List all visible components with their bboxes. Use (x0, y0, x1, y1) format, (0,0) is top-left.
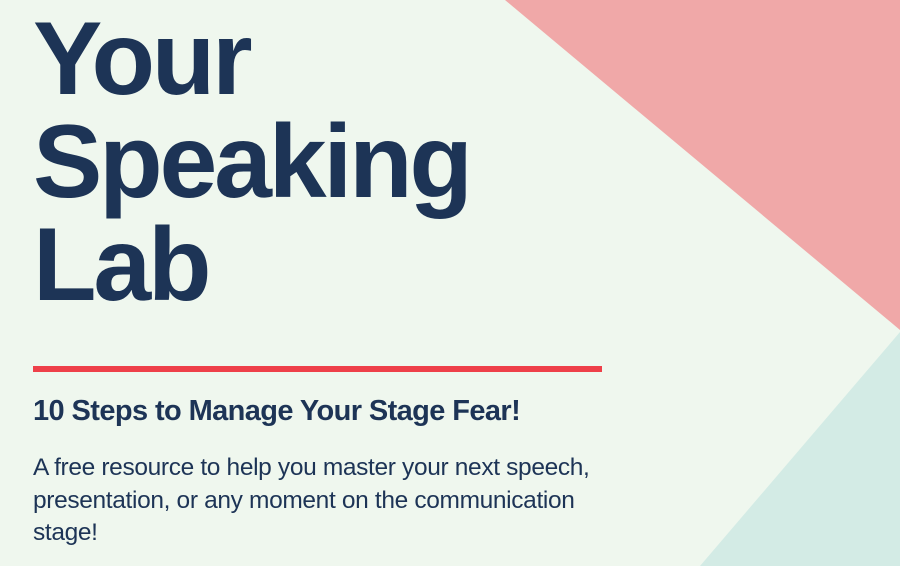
poster-canvas: Your Speaking Lab 10 Steps to Manage You… (0, 0, 900, 566)
red-divider-rule (33, 366, 602, 372)
title-line-2: Speaking (33, 111, 653, 214)
title-line-1: Your (33, 8, 653, 111)
title-line-3: Lab (33, 214, 653, 317)
page-title: Your Speaking Lab (33, 8, 653, 317)
body-description: A free resource to help you master your … (33, 452, 633, 550)
poster-content: Your Speaking Lab 10 Steps to Manage You… (0, 0, 900, 566)
headline-text: 10 Steps to Manage Your Stage Fear! (33, 395, 733, 428)
